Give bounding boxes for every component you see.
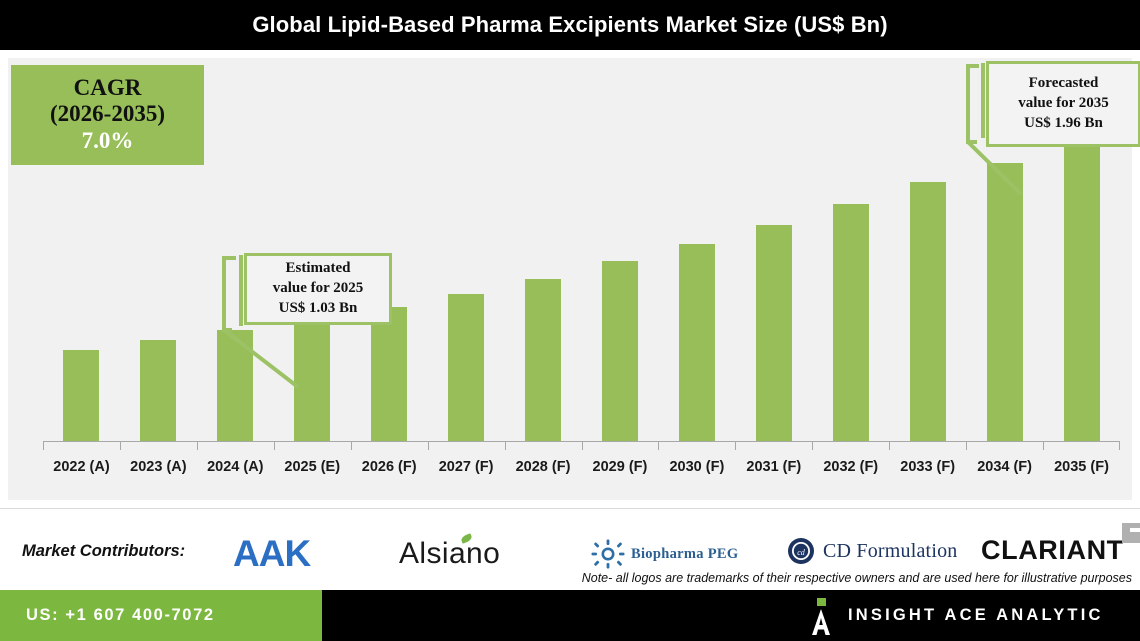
- logo-aak-text: AAK: [233, 533, 310, 575]
- burst-icon: [591, 539, 625, 569]
- contributors-label: Market Contributors:: [22, 542, 185, 561]
- logo-cd-formulation-text: CD Formulation: [823, 540, 957, 563]
- logo-cd-formulation: cd CD Formulation: [787, 537, 957, 565]
- callout-2025-line3: US$ 1.03 Bn: [279, 299, 358, 319]
- svg-text:cd: cd: [797, 548, 806, 557]
- clariant-mark-icon: [1122, 523, 1140, 543]
- logo-alsiano-text: Alsiano: [399, 537, 500, 571]
- header-bar: Global Lipid-Based Pharma Excipients Mar…: [0, 0, 1140, 50]
- callout-2025-line2: value for 2025: [273, 279, 364, 299]
- page-title: Global Lipid-Based Pharma Excipients Mar…: [252, 12, 887, 38]
- footer-phone-number[interactable]: US: +1 607 400-7072: [26, 606, 215, 625]
- callout-2025-line1: Estimated: [286, 259, 351, 279]
- chart-panel: 2022 (A)2023 (A)2024 (A)2025 (E)2026 (F)…: [0, 50, 1140, 508]
- logo-clariant: CLARIANT: [981, 535, 1124, 566]
- callout-estimated-2025: Estimated value for 2025 US$ 1.03 Bn: [244, 253, 392, 325]
- logo-alsiano: Alsiano: [399, 537, 500, 571]
- callout-forecasted-2035: Forecasted value for 2035 US$ 1.96 Bn: [986, 61, 1140, 147]
- callout-leader-lines: [8, 58, 1132, 500]
- footer-bar: US: +1 607 400-7072 INSIGHT ACE ANALYTIC: [0, 590, 1140, 641]
- contributors-strip: Market Contributors: AAK Alsiano Biophar…: [0, 508, 1140, 590]
- callout-2035-line3: US$ 1.96 Bn: [1024, 114, 1103, 134]
- logo-biopharma-text: Biopharma PEG: [631, 546, 738, 563]
- logo-biopharma-peg: Biopharma PEG: [591, 539, 738, 569]
- insightace-logo-icon: [806, 598, 836, 636]
- circular-emblem-icon: cd: [787, 537, 815, 565]
- footer-brand: INSIGHT ACE ANALYTIC: [848, 590, 1104, 641]
- contributors-note: Note- all logos are trademarks of their …: [582, 571, 1132, 585]
- callout-2035-line2: value for 2035: [1018, 94, 1109, 114]
- footer-phone-block[interactable]: US: +1 607 400-7072: [0, 590, 322, 641]
- callout-2035-line1: Forecasted: [1029, 74, 1099, 94]
- plot-area: 2022 (A)2023 (A)2024 (A)2025 (E)2026 (F)…: [8, 58, 1132, 500]
- logo-aak: AAK: [233, 533, 310, 575]
- logo-clariant-text: CLARIANT: [981, 535, 1124, 566]
- footer-brand-name: INSIGHT ACE ANALYTIC: [848, 606, 1104, 625]
